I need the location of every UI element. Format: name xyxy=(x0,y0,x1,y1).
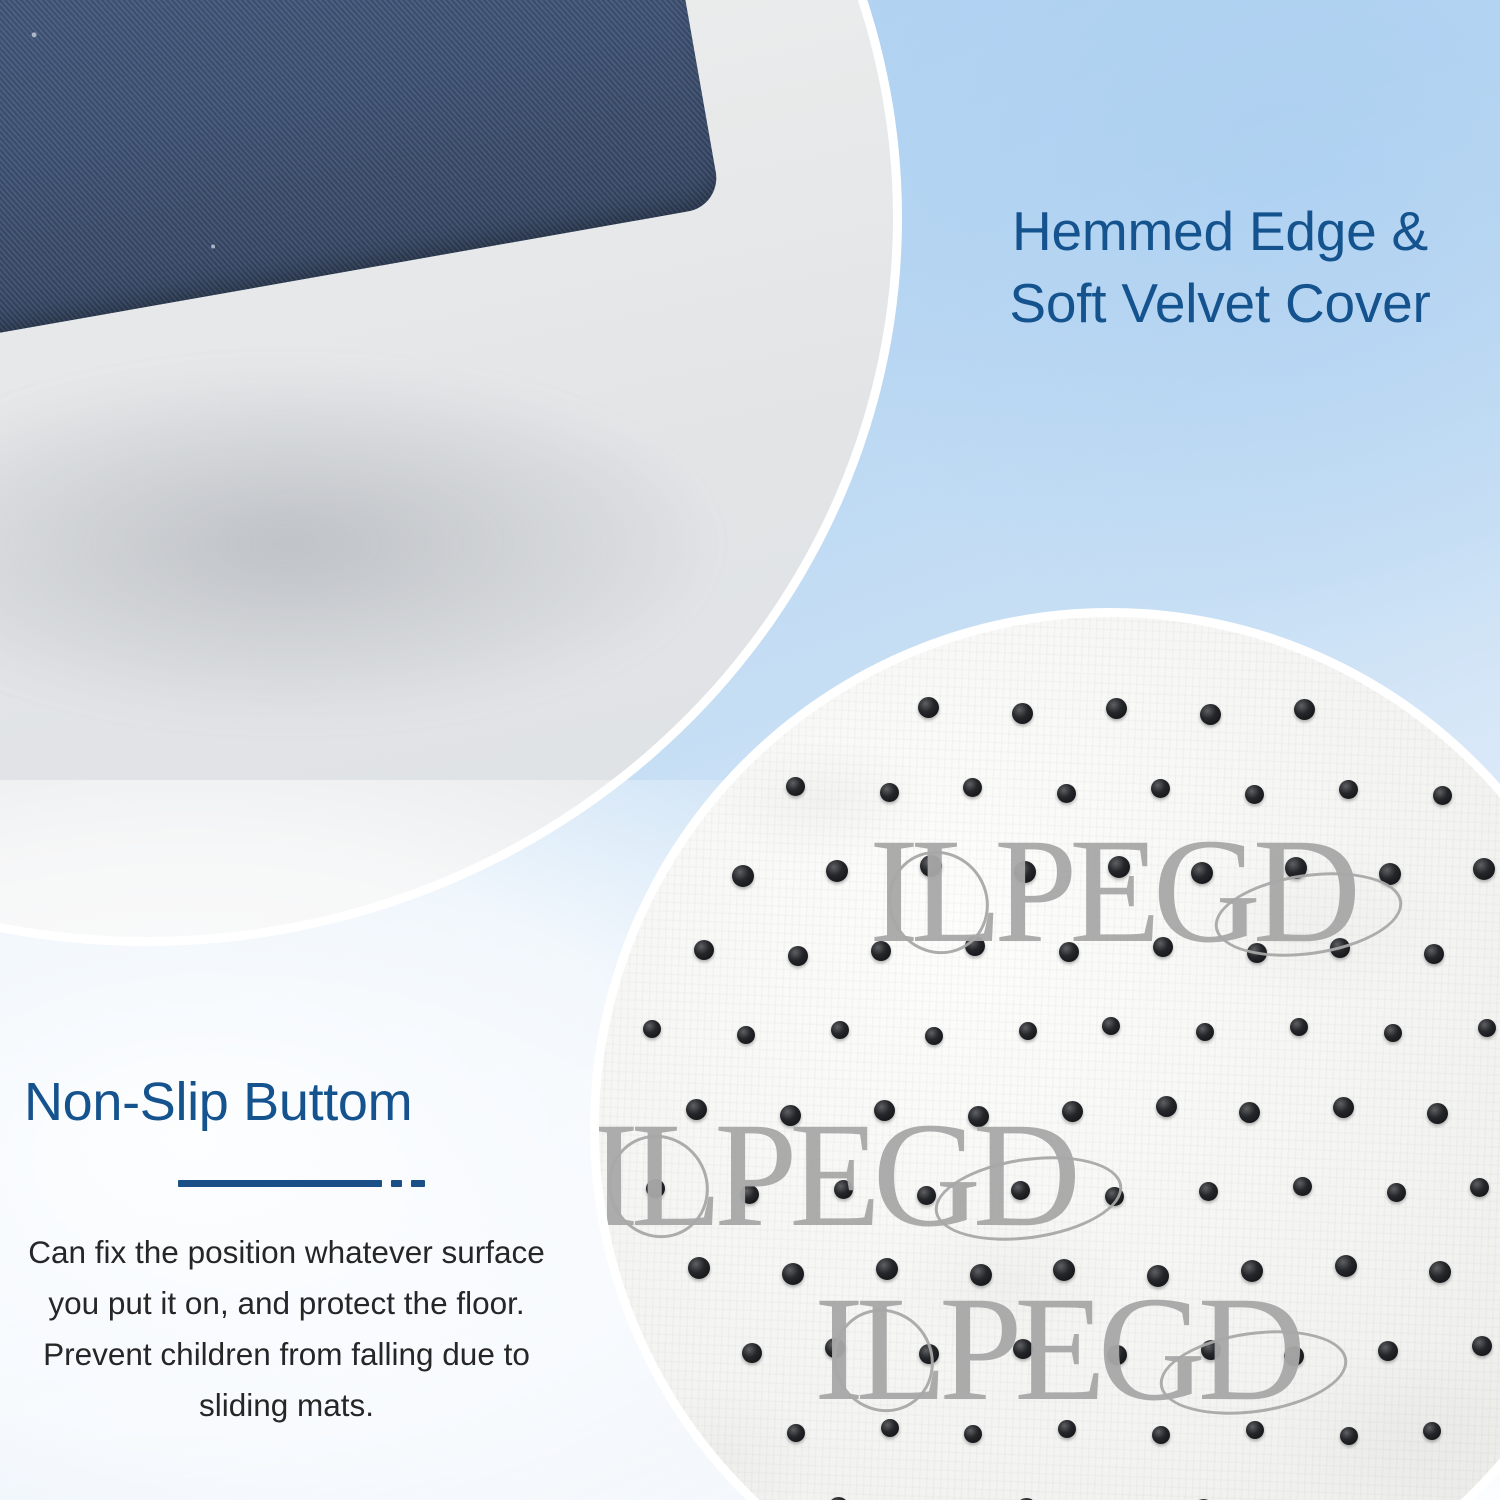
non-slip-dot xyxy=(1156,1096,1177,1117)
non-slip-dot xyxy=(918,697,939,718)
non-slip-dot xyxy=(694,940,714,960)
non-slip-dot xyxy=(1199,1182,1218,1201)
non-slip-dot xyxy=(1384,1024,1402,1042)
non-slip-dot xyxy=(732,865,754,887)
body-line: sliding mats. xyxy=(14,1380,559,1431)
non-slip-dot xyxy=(1335,1255,1357,1277)
non-slip-dot xyxy=(1478,1019,1496,1037)
non-slip-dot xyxy=(1433,786,1452,805)
non-slip-dot xyxy=(1339,780,1358,799)
non-slip-dot xyxy=(1245,785,1264,804)
non-slip-dot xyxy=(1378,1341,1398,1361)
divider-bar xyxy=(178,1180,382,1187)
non-slip-dot xyxy=(1387,1183,1406,1202)
non-slip-dot xyxy=(880,783,899,802)
non-slip-dot xyxy=(1293,1177,1312,1196)
non-slip-dot xyxy=(1012,703,1033,724)
photo-circle-non-slip-bottom: ILPEGDILPEGDILPEGD xyxy=(590,608,1500,1500)
non-slip-dot xyxy=(643,1020,661,1038)
non-slip-dot xyxy=(1102,1017,1120,1035)
body-line: you put it on, and protect the floor. xyxy=(14,1278,559,1329)
non-slip-dot xyxy=(1106,698,1127,719)
body-line: Prevent children from falling due to xyxy=(14,1329,559,1380)
cushion-floor-shadow xyxy=(0,379,699,709)
non-slip-dot xyxy=(1427,1103,1448,1124)
divider-dash-1 xyxy=(391,1180,402,1187)
non-slip-dot xyxy=(737,1026,755,1044)
non-slip-dot xyxy=(782,1263,804,1285)
cushion-side-face xyxy=(0,0,722,400)
body-copy-non-slip-bottom: Can fix the position whatever surface yo… xyxy=(14,1227,559,1431)
heading-hemmed-edge: Hemmed Edge & Soft Velvet Cover xyxy=(950,196,1490,339)
non-slip-dot xyxy=(788,946,808,966)
non-slip-dot xyxy=(742,1343,762,1363)
heading-hemmed-edge-line1: Hemmed Edge & xyxy=(950,196,1490,268)
non-slip-dot xyxy=(1473,858,1495,880)
non-slip-dot xyxy=(1200,704,1221,725)
non-slip-dot xyxy=(1196,1023,1214,1041)
non-slip-dot xyxy=(1340,1427,1358,1445)
non-slip-dot xyxy=(963,778,982,797)
non-slip-dot xyxy=(1239,1102,1260,1123)
non-slip-dot xyxy=(786,777,805,796)
divider xyxy=(178,1178,425,1188)
non-slip-dot xyxy=(826,860,848,882)
heading-non-slip-bottom: Non-Slip Buttom xyxy=(24,1073,544,1132)
non-slip-dot xyxy=(787,1424,805,1442)
product-feature-infographic: ILPEGDILPEGDILPEGD Hemmed Edge & Soft Ve… xyxy=(0,0,1500,1500)
non-slip-dot xyxy=(1333,1097,1354,1118)
photo-non-slip-image: ILPEGDILPEGDILPEGD xyxy=(599,617,1500,1500)
non-slip-dot xyxy=(1423,1422,1441,1440)
body-line: Can fix the position whatever surface xyxy=(14,1227,559,1278)
non-slip-dot xyxy=(1429,1261,1451,1283)
non-slip-dot xyxy=(1294,699,1315,720)
non-slip-dot xyxy=(1151,779,1170,798)
non-slip-dot xyxy=(831,1021,849,1039)
non-slip-dot xyxy=(925,1027,943,1045)
heading-hemmed-edge-line2: Soft Velvet Cover xyxy=(950,268,1490,340)
divider-dash-2 xyxy=(411,1180,425,1187)
non-slip-dot xyxy=(1472,1336,1492,1356)
non-slip-dot xyxy=(1057,784,1076,803)
non-slip-dot xyxy=(1019,1022,1037,1040)
non-slip-dot xyxy=(1290,1018,1308,1036)
non-slip-dot xyxy=(1424,944,1444,964)
non-slip-dot xyxy=(1470,1178,1489,1197)
